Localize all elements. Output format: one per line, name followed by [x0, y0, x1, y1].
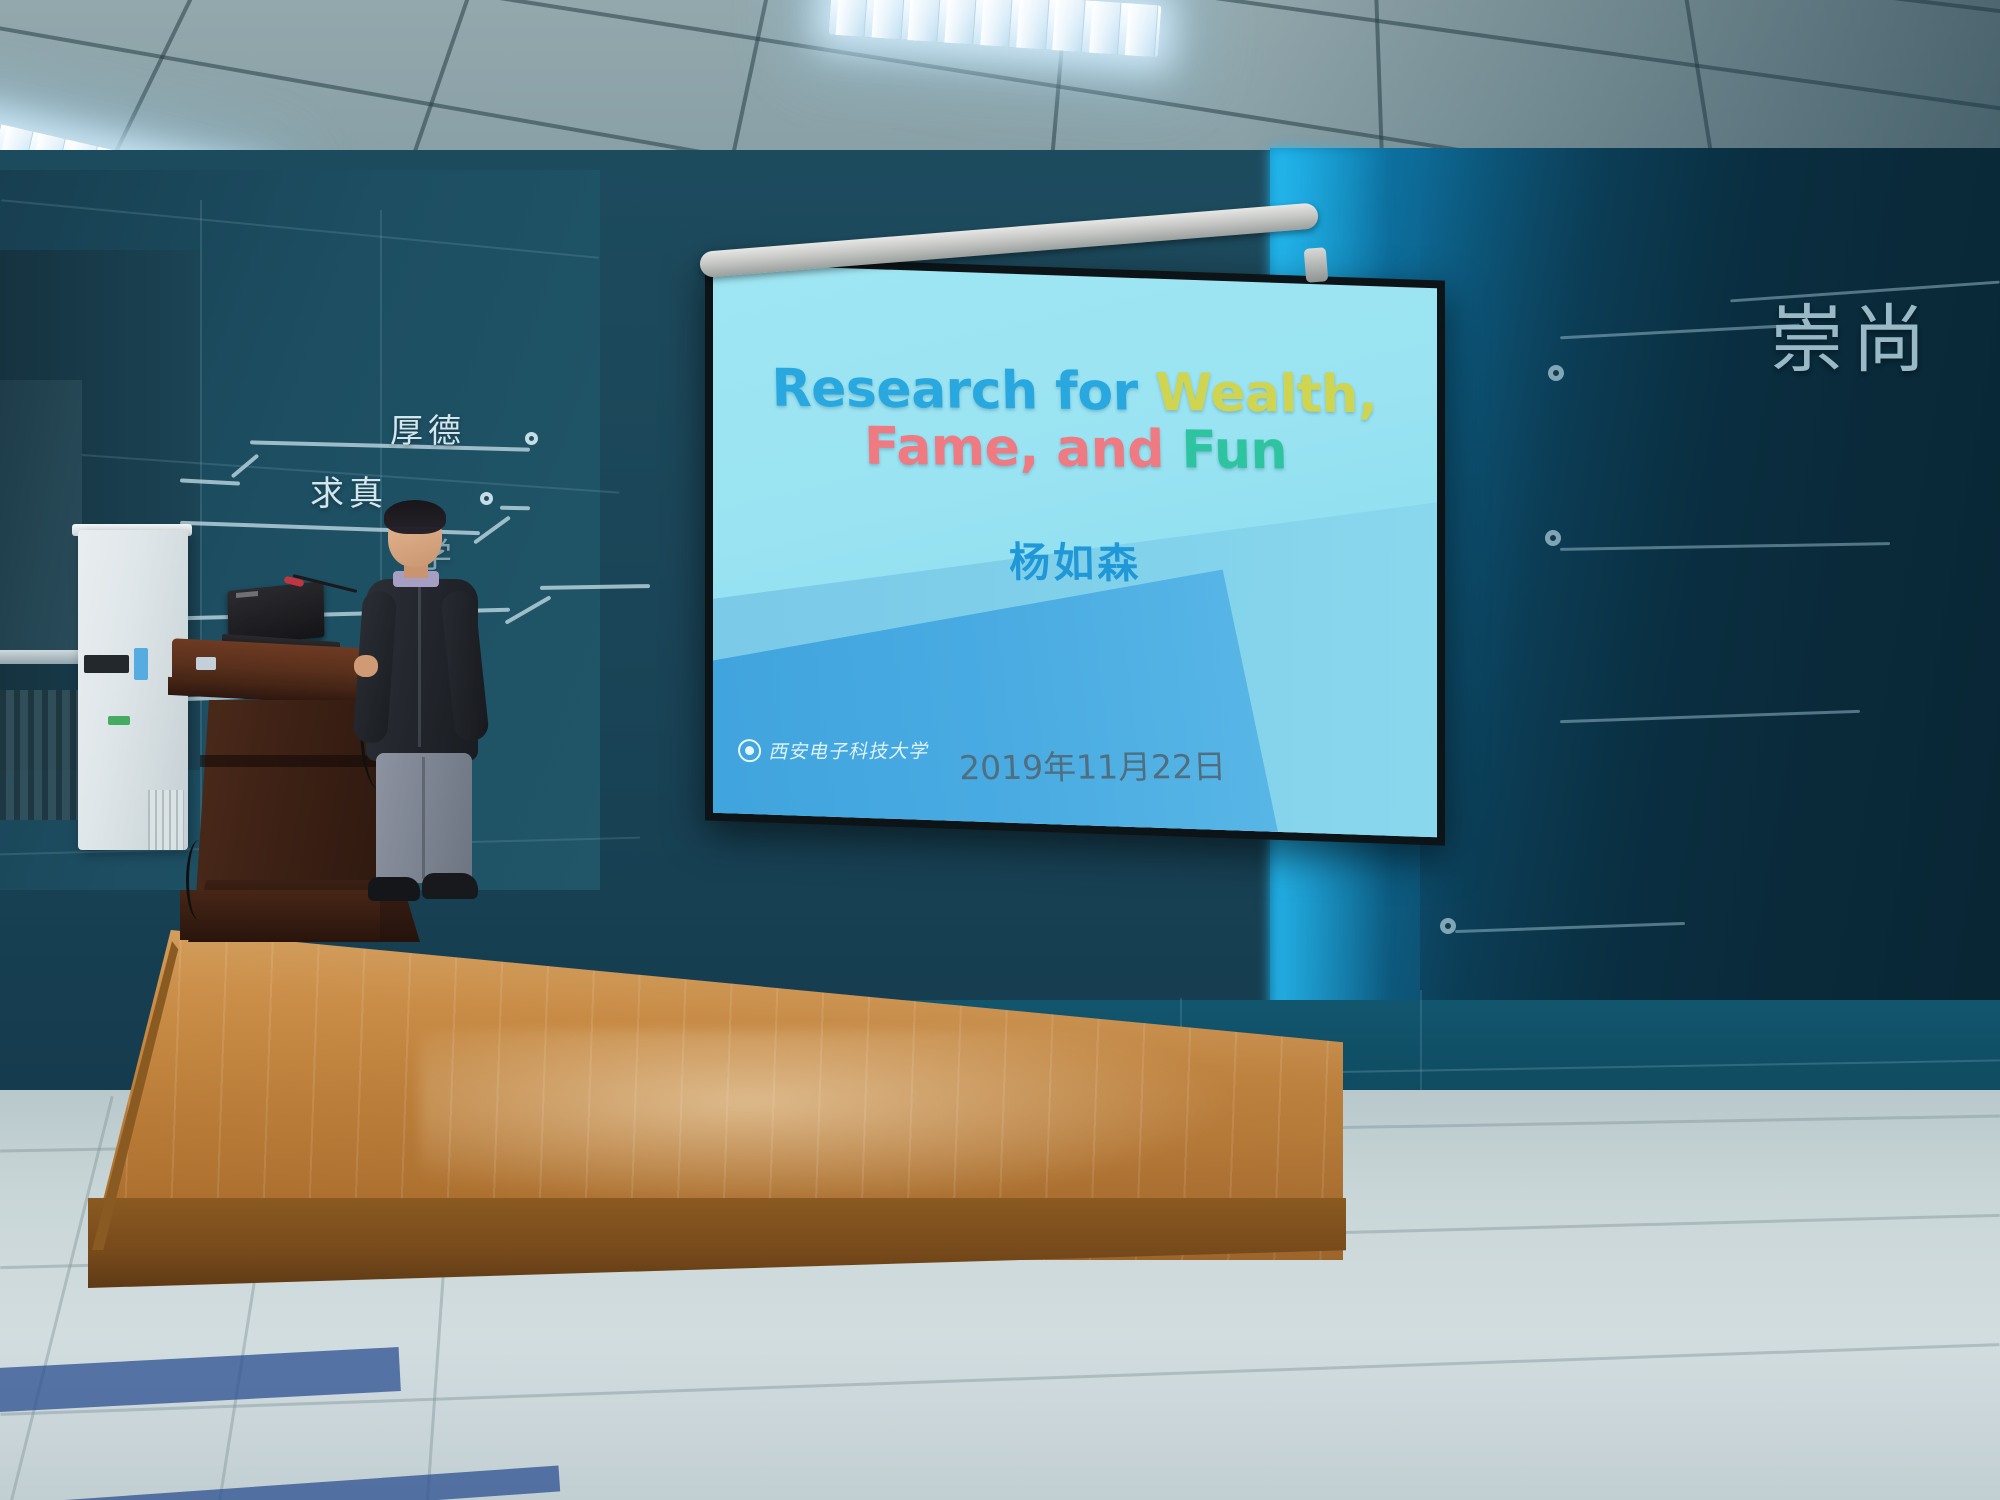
- air-conditioner-sticker: [108, 716, 130, 725]
- slide-title-line2: Fame, and Fun: [713, 417, 1437, 482]
- slide-canvas: Research for Wealth, Fame, and Fun 杨如森 西…: [713, 264, 1437, 838]
- wall-circuit-node: [1545, 530, 1561, 546]
- slide-title-fun: Fun: [1181, 420, 1288, 481]
- university-logo: 西安电子科技大学: [738, 737, 929, 765]
- air-conditioner-vents: [148, 790, 184, 850]
- presenter-glasses: [391, 527, 439, 537]
- cable: [186, 840, 212, 920]
- slide-title-line1: Research for Wealth,: [713, 360, 1437, 425]
- slide-presenter-name: 杨如森: [713, 524, 1437, 592]
- presenter-left-shoe: [368, 877, 420, 901]
- presenter-leg-seam: [422, 757, 425, 879]
- air-conditioner-badge: [134, 648, 148, 680]
- stage-reflection: [420, 1030, 1240, 1210]
- university-logo-text: 西安电子科技大学: [768, 737, 929, 765]
- wall-circuit-node: [1548, 365, 1564, 381]
- projector-screen: Research for Wealth, Fame, and Fun 杨如森 西…: [705, 255, 1445, 845]
- right-wall-shading: [1420, 148, 2000, 1018]
- radiator: [0, 690, 78, 820]
- presenter-jacket-zipper: [418, 587, 421, 747]
- projector-screen-roller-cap: [1304, 247, 1329, 283]
- air-conditioner-display: [84, 655, 129, 673]
- lecture-hall-scene: 厚德 求真 学 崇尚 Research for Wealth, Fame, a: [0, 0, 2000, 1500]
- slide-title-wealth: Wealth,: [1155, 363, 1378, 426]
- slide-date: 2019年11月22日: [958, 740, 1227, 789]
- slide-title-research-for: Research for: [771, 358, 1156, 422]
- university-emblem-icon: [738, 739, 762, 762]
- presenter: [360, 505, 490, 915]
- wall-circuit-node: [1440, 918, 1456, 934]
- window-curtain: [0, 380, 82, 660]
- presenter-hand: [354, 655, 378, 677]
- wall-text-houde: 厚德: [390, 404, 466, 452]
- slide-title: Research for Wealth, Fame, and Fun: [713, 360, 1437, 483]
- slide-title-fame-and: Fame, and: [864, 417, 1183, 481]
- podium-nameplate: [196, 657, 216, 670]
- presenter-right-shoe: [422, 873, 478, 899]
